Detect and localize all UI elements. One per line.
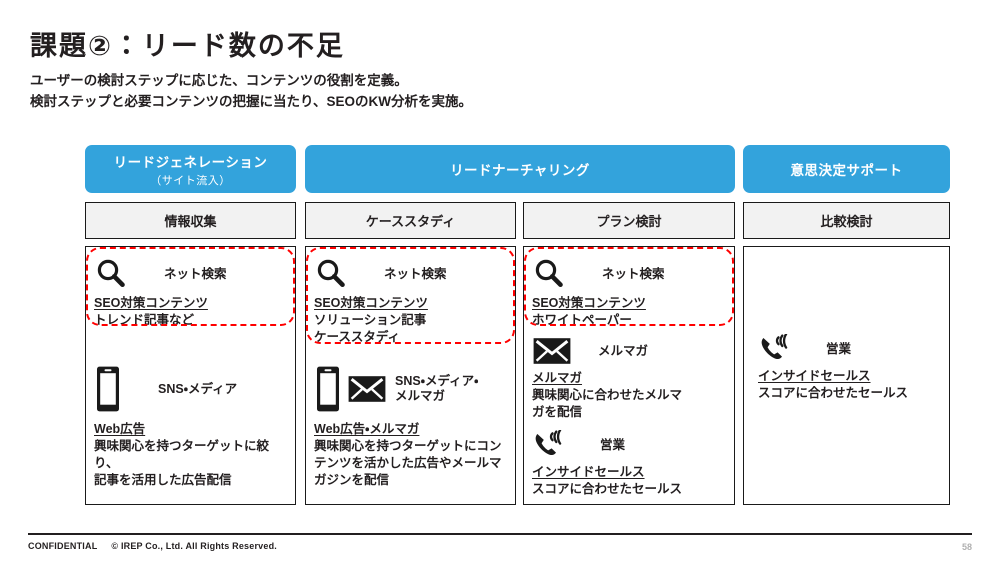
block-body: Web広告 興味関心を持つターゲットに絞り、 記事を活用した広告配信 <box>94 421 290 489</box>
phase-bar-lead-nurturing: リードナーチャリング <box>305 145 735 193</box>
step-box-comparison: 比較検討 <box>743 202 950 239</box>
channel-block-net-search: ネット検索 SEO対策コンテンツ ソリューション記事 ケーススタディ <box>314 255 510 346</box>
block-icons <box>532 430 566 460</box>
column-information-gathering: ネット検索 SEO対策コンテンツ トレンド記事など <box>85 246 296 505</box>
channel-block-mailmagazine: メルマガ メルマガ 興味関心に合わせたメルマ ガを配信 <box>532 335 728 421</box>
block-desc-line: ガを配信 <box>532 404 728 421</box>
block-body: インサイドセールス スコアに合わせたセールス <box>532 464 728 498</box>
step-box-case-study: ケーススタディ <box>305 202 516 239</box>
subtitle-line-1: ユーザーの検討ステップに応じた、コンテンツの役割を定義。 <box>30 70 472 91</box>
block-icons <box>314 365 387 413</box>
envelope-icon <box>532 336 572 366</box>
phone-call-icon <box>532 430 566 460</box>
block-head: ネット検索 <box>314 255 510 293</box>
block-term: インサイドセールス <box>532 464 728 481</box>
block-term: Web広告 <box>94 421 290 438</box>
block-head-label: SNS・メディア・ メルマガ <box>395 374 478 404</box>
channel-block-net-search: ネット検索 SEO対策コンテンツ トレンド記事など <box>94 255 290 329</box>
page-number: 58 <box>962 542 972 552</box>
block-desc-line: 興味関心を持つターゲットに絞り、 <box>94 438 290 472</box>
step-box-row: 情報収集 ケーススタディ プラン検討 比較検討 <box>85 202 950 239</box>
block-desc-line: トレンド記事など <box>94 312 290 329</box>
block-head-label: メルマガ <box>598 344 648 359</box>
channel-block-sns-media-mailmagazine: SNS・メディア・ メルマガ Web広告・メルマガ 興味関心を持つターゲットにコ… <box>314 363 514 489</box>
confidential-label: CONFIDENTIAL <box>28 541 97 551</box>
block-head-label: ネット検索 <box>384 267 447 282</box>
envelope-icon <box>347 374 387 404</box>
block-head: メルマガ <box>532 335 728 367</box>
funnel-diagram: リードジェネレーション （サイト流入） リードナーチャリング 意思決定サポート … <box>85 145 950 505</box>
block-head: SNS・メディア <box>94 363 290 415</box>
block-head: ネット検索 <box>532 255 728 293</box>
block-desc-line: スコアに合わせたセールス <box>758 385 948 402</box>
block-head-label: 営業 <box>826 342 851 357</box>
block-term: SEO対策コンテンツ <box>94 295 290 312</box>
footer-divider <box>28 533 972 535</box>
channel-block-sales: 営業 インサイドセールス スコアに合わせたセールス <box>758 333 948 402</box>
block-desc-line: 興味関心に合わせたメルマ <box>532 387 728 404</box>
block-head-label: ネット検索 <box>164 267 227 282</box>
block-icons <box>94 365 122 413</box>
column-comparison: 営業 インサイドセールス スコアに合わせたセールス <box>743 246 950 505</box>
block-head-label: 営業 <box>600 438 625 453</box>
footer-left: CONFIDENTIAL © IREP Co., Ltd. All Rights… <box>28 541 277 551</box>
search-icon <box>314 257 348 291</box>
page-title: 課題②：リード数の不足 <box>30 24 345 63</box>
block-term: SEO対策コンテンツ <box>314 295 510 312</box>
channel-block-sales: 営業 インサイドセールス スコアに合わせたセールス <box>532 429 728 498</box>
column-plan-review: ネット検索 SEO対策コンテンツ ホワイトペーパー <box>523 246 735 505</box>
block-head: 営業 <box>758 333 948 365</box>
block-desc-line: 記事を活用した広告配信 <box>94 472 290 489</box>
block-icons <box>532 257 566 291</box>
channel-block-sns-media: SNS・メディア Web広告 興味関心を持つターゲットに絞り、 記事を活用した広… <box>94 363 290 489</box>
block-body: メルマガ 興味関心に合わせたメルマ ガを配信 <box>532 370 728 421</box>
block-desc-line: テンツを活かした広告やメールマ <box>314 455 514 472</box>
step-box-information-gathering: 情報収集 <box>85 202 296 239</box>
subtitle-line-2: 検討ステップと必要コンテンツの把握に当たり、SEOのKW分析を実施。 <box>30 91 472 112</box>
block-head: SNS・メディア・ メルマガ <box>314 363 514 415</box>
step-box-plan-review: プラン検討 <box>523 202 735 239</box>
search-icon <box>94 257 128 291</box>
block-desc-line: ケーススタディ <box>314 329 510 346</box>
copyright-label: © IREP Co., Ltd. All Rights Reserved. <box>111 541 277 551</box>
block-body: SEO対策コンテンツ トレンド記事など <box>94 295 290 329</box>
search-icon <box>532 257 566 291</box>
block-desc-line: ソリューション記事 <box>314 312 510 329</box>
phase-sublabel: （サイト流入） <box>150 172 231 188</box>
block-desc-line: 興味関心を持つターゲットにコン <box>314 438 514 455</box>
block-body: Web広告・メルマガ 興味関心を持つターゲットにコン テンツを活かした広告やメー… <box>314 421 514 489</box>
block-head-label: ネット検索 <box>602 267 665 282</box>
block-desc-line: ホワイトペーパー <box>532 312 728 329</box>
block-body: インサイドセールス スコアに合わせたセールス <box>758 368 948 402</box>
phase-label: リードナーチャリング <box>450 159 590 179</box>
block-term: メルマガ <box>532 370 728 387</box>
block-term: Web広告・メルマガ <box>314 421 514 438</box>
block-head-label: SNS・メディア <box>158 382 237 397</box>
phase-bar-row: リードジェネレーション （サイト流入） リードナーチャリング 意思決定サポート <box>85 145 950 193</box>
smartphone-icon <box>94 365 122 413</box>
channel-block-net-search: ネット検索 SEO対策コンテンツ ホワイトペーパー <box>532 255 728 329</box>
block-icons <box>758 334 792 364</box>
phase-label: 意思決定サポート <box>791 159 903 179</box>
phase-label: リードジェネレーション <box>114 151 268 171</box>
block-term: インサイドセールス <box>758 368 948 385</box>
block-body: SEO対策コンテンツ ソリューション記事 ケーススタディ <box>314 295 510 346</box>
block-head: ネット検索 <box>94 255 290 293</box>
block-head: 営業 <box>532 429 728 461</box>
block-desc-line: スコアに合わせたセールス <box>532 481 728 498</box>
column-row: ネット検索 SEO対策コンテンツ トレンド記事など <box>85 246 950 505</box>
subtitle-block: ユーザーの検討ステップに応じた、コンテンツの役割を定義。 検討ステップと必要コン… <box>30 70 472 112</box>
phone-call-icon <box>758 334 792 364</box>
phase-bar-lead-generation: リードジェネレーション （サイト流入） <box>85 145 296 193</box>
block-body: SEO対策コンテンツ ホワイトペーパー <box>532 295 728 329</box>
block-desc-line: ガジンを配信 <box>314 472 514 489</box>
smartphone-icon <box>314 365 342 413</box>
block-term: SEO対策コンテンツ <box>532 295 728 312</box>
block-icons <box>314 257 348 291</box>
phase-bar-decision-support: 意思決定サポート <box>743 145 950 193</box>
block-icons <box>532 336 572 366</box>
column-case-study: ネット検索 SEO対策コンテンツ ソリューション記事 ケーススタディ <box>305 246 516 505</box>
block-icons <box>94 257 128 291</box>
